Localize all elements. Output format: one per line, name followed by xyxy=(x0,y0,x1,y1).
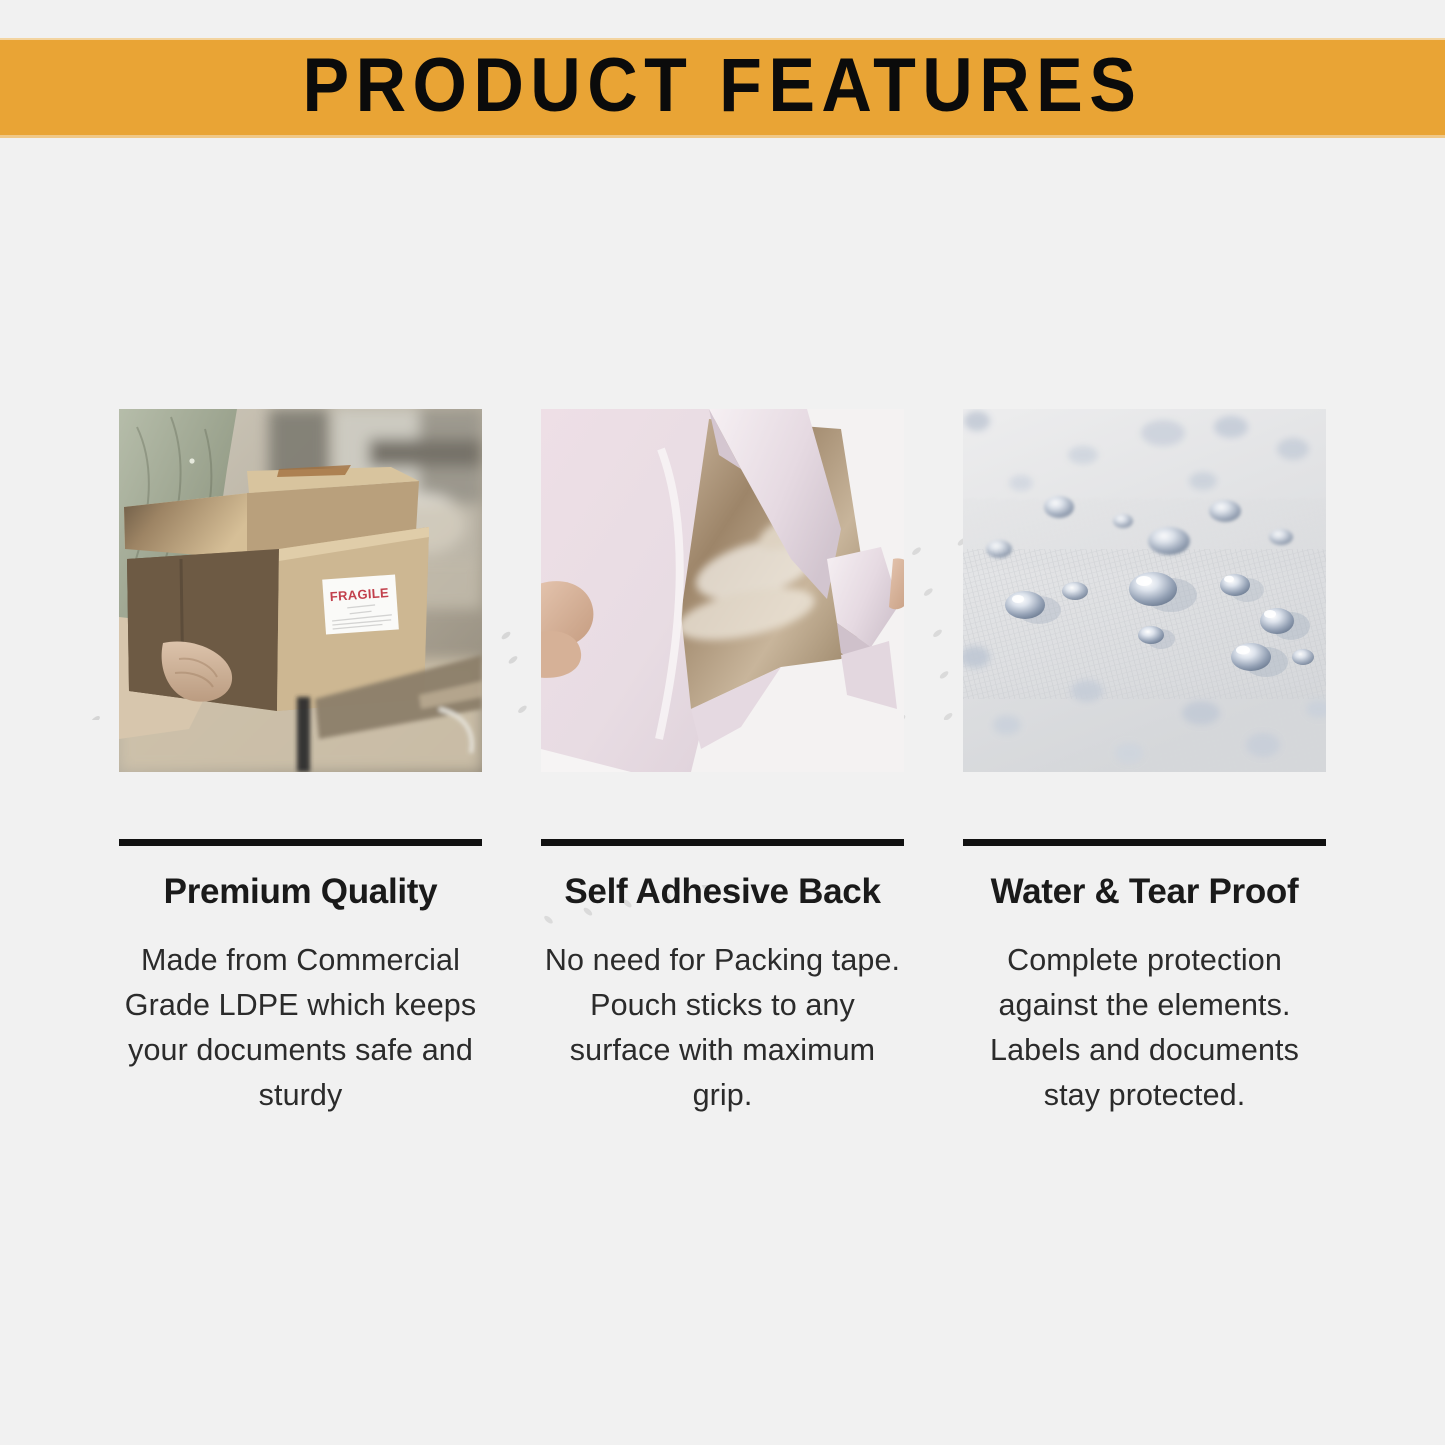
feature-list: FRAGILE xyxy=(119,409,1326,1119)
feature-title: Self Adhesive Back xyxy=(541,872,904,912)
water-droplets-fabric-photo xyxy=(963,409,1326,772)
feature-divider-rule xyxy=(541,839,904,846)
feature-description: Made from Commercial Grade LDPE which ke… xyxy=(119,938,482,1119)
shipping-boxes-photo: FRAGILE xyxy=(119,409,482,772)
page-title: PRODUCT FEATURES xyxy=(303,48,1143,124)
feature-description: Complete protection against the elements… xyxy=(963,938,1326,1119)
product-features-page: PRODUCT FEATURES xyxy=(0,0,1445,1445)
adhesive-liner-peel-photo xyxy=(541,409,904,772)
page-header-banner: PRODUCT FEATURES xyxy=(0,38,1445,138)
feature-card-self-adhesive-back: Self Adhesive Back No need for Packing t… xyxy=(541,409,904,1119)
feature-description: No need for Packing tape. Pouch sticks t… xyxy=(541,938,904,1119)
feature-divider-rule xyxy=(119,839,482,846)
feature-title: Water & Tear Proof xyxy=(963,872,1326,912)
feature-divider-rule xyxy=(963,839,1326,846)
feature-card-water-tear-proof: Water & Tear Proof Complete protection a… xyxy=(963,409,1326,1119)
feature-card-premium-quality: FRAGILE xyxy=(119,409,482,1119)
feature-title: Premium Quality xyxy=(119,872,482,912)
